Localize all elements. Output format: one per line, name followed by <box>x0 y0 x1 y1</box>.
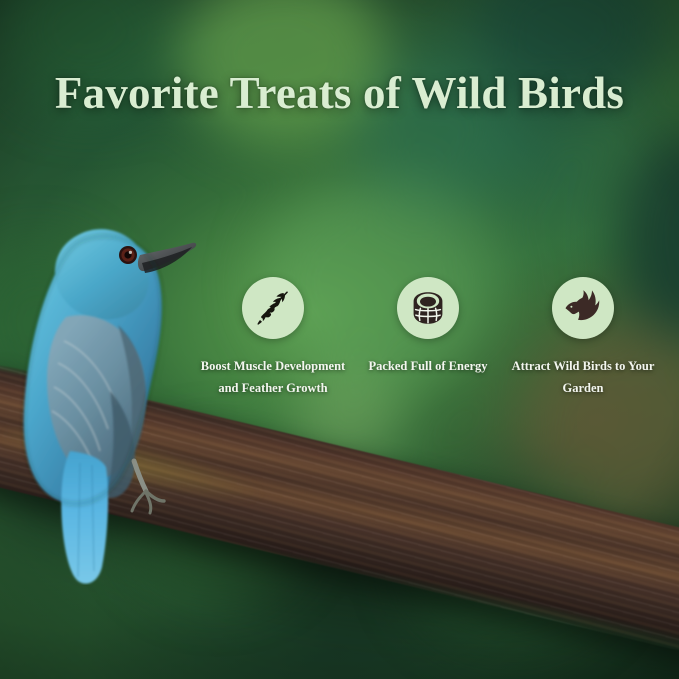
suet-ball-icon <box>397 277 459 339</box>
promo-image: Favorite Treats of Wild Birds <box>0 0 679 679</box>
flying-bird-icon <box>552 277 614 339</box>
feature-label: Attract Wild Birds to Your Garden <box>508 356 658 399</box>
feature-item-muscle-development: Boost Muscle Development and Feather Gro… <box>198 277 348 399</box>
feature-label: Boost Muscle Development and Feather Gro… <box>198 356 348 399</box>
feature-item-attract-birds: Attract Wild Birds to Your Garden <box>508 277 658 399</box>
feature-item-energy: Packed Full of Energy <box>353 277 503 378</box>
feature-label: Packed Full of Energy <box>368 356 487 378</box>
feature-list: Boost Muscle Development and Feather Gro… <box>198 277 658 399</box>
page-title: Favorite Treats of Wild Birds <box>0 70 679 117</box>
feather-icon <box>242 277 304 339</box>
